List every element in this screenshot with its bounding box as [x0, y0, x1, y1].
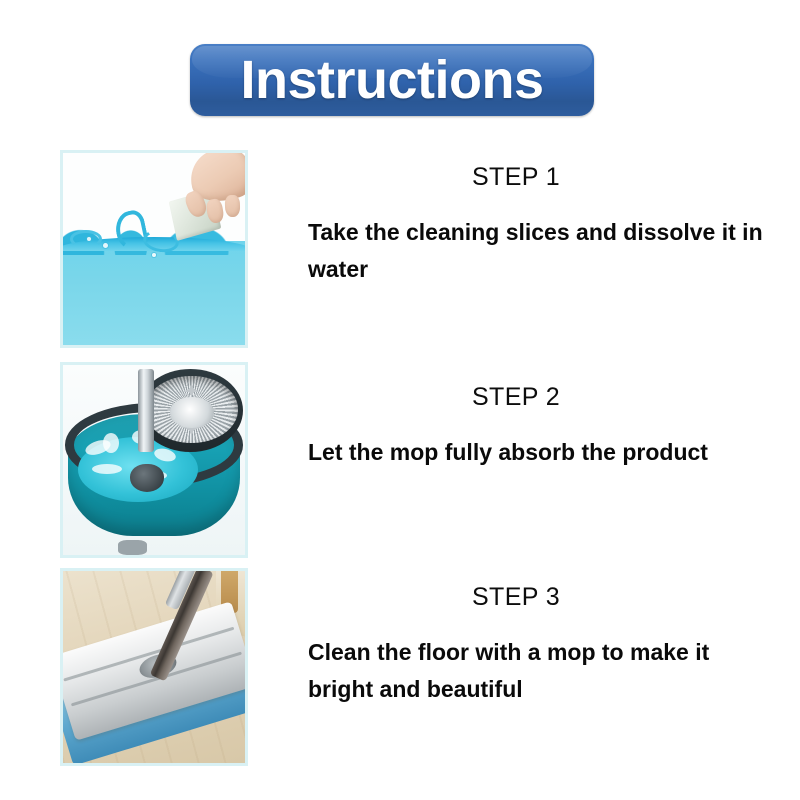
step-3-description: Clean the floor with a mop to make it br…	[290, 634, 770, 709]
step-1-image-frame	[60, 150, 248, 348]
photo2-splash	[92, 464, 122, 474]
photo1-finger	[225, 195, 241, 218]
photo2-spinner-center	[170, 397, 214, 427]
photo2-mop-head-hub	[130, 464, 164, 492]
step-3-label: STEP 3	[290, 582, 770, 612]
photo1-water-body	[63, 241, 245, 345]
photo2-bucket-foot	[118, 540, 147, 555]
instructions-title-banner: Instructions	[190, 44, 594, 116]
step-3-text-block: STEP 3 Clean the floor with a mop to mak…	[290, 582, 770, 709]
step-3-image-frame	[60, 568, 248, 766]
page-title: Instructions	[240, 53, 543, 107]
flat-mop-on-floor-photo	[63, 571, 245, 763]
photo2-mop-pole	[138, 369, 154, 453]
step-2-image-frame	[60, 362, 248, 558]
step-1-description: Take the cleaning slices and dissolve it…	[290, 214, 770, 289]
cleaning-slice-dissolving-in-water-photo	[63, 153, 245, 345]
step-1-label: STEP 1	[290, 162, 770, 192]
step-1-text-block: STEP 1 Take the cleaning slices and diss…	[290, 162, 770, 289]
spin-mop-bucket-photo	[63, 365, 245, 555]
photo1-droplet	[152, 253, 156, 257]
step-2-text-block: STEP 2 Let the mop fully absorb the prod…	[290, 382, 770, 471]
step-2-label: STEP 2	[290, 382, 770, 412]
step-2-description: Let the mop fully absorb the product	[290, 434, 770, 471]
